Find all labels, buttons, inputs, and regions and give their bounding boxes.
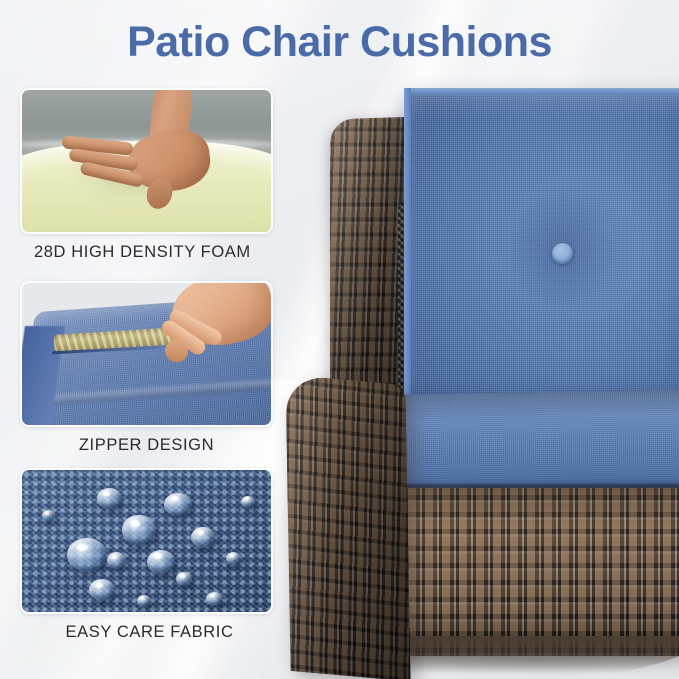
product-photo-patio-chair[interactable] (286, 0, 679, 679)
cushion-piping-left (404, 88, 411, 418)
feature-easy-care-fabric: EASY CARE FABRIC (20, 468, 273, 642)
feature-high-density-foam: 28D HIGH DENSITY FOAM (20, 88, 273, 262)
feature-thumbnail-zipper[interactable] (20, 281, 273, 427)
water-droplet (206, 592, 223, 606)
feature-thumbnail-foam[interactable] (20, 88, 273, 234)
water-droplet (67, 538, 107, 572)
hand-pressing-foam (122, 88, 237, 212)
feature-thumbnail-fabric[interactable] (20, 468, 273, 614)
tufted-button (552, 243, 573, 264)
feature-zipper-design: ZIPPER DESIGN (20, 281, 273, 455)
cushion-piping-top (404, 88, 679, 95)
water-droplet (164, 493, 192, 516)
page-title: Patio Chair Cushions (0, 18, 679, 67)
feature-caption-zipper: ZIPPER DESIGN (20, 436, 273, 455)
feature-caption-foam: 28D HIGH DENSITY FOAM (20, 243, 273, 262)
feature-caption-fabric: EASY CARE FABRIC (20, 623, 273, 642)
wicker-armrest (285, 374, 410, 679)
hand-opening-zipper (147, 281, 274, 368)
water-droplet (147, 550, 175, 574)
water-droplet (137, 595, 151, 607)
water-droplet (107, 552, 126, 569)
water-droplet (42, 510, 55, 521)
water-droplet (191, 527, 215, 548)
water-beading-photo (22, 470, 271, 612)
product-infographic: Patio Chair Cushions 28D HIGH DENSITY FO… (0, 0, 679, 679)
water-droplet (89, 579, 115, 601)
water-droplet (176, 572, 192, 586)
wicker-base (386, 488, 679, 656)
seat-back-shadow (381, 389, 679, 421)
water-droplet (226, 552, 241, 565)
foam-press-photo (22, 90, 271, 232)
water-droplet (122, 515, 156, 545)
cushion-fold-line (38, 378, 273, 406)
water-droplet (97, 488, 122, 509)
zipper-open-photo (22, 283, 271, 425)
water-droplet (241, 496, 255, 508)
floor-shadow (366, 648, 679, 674)
back-cushion (404, 88, 679, 418)
